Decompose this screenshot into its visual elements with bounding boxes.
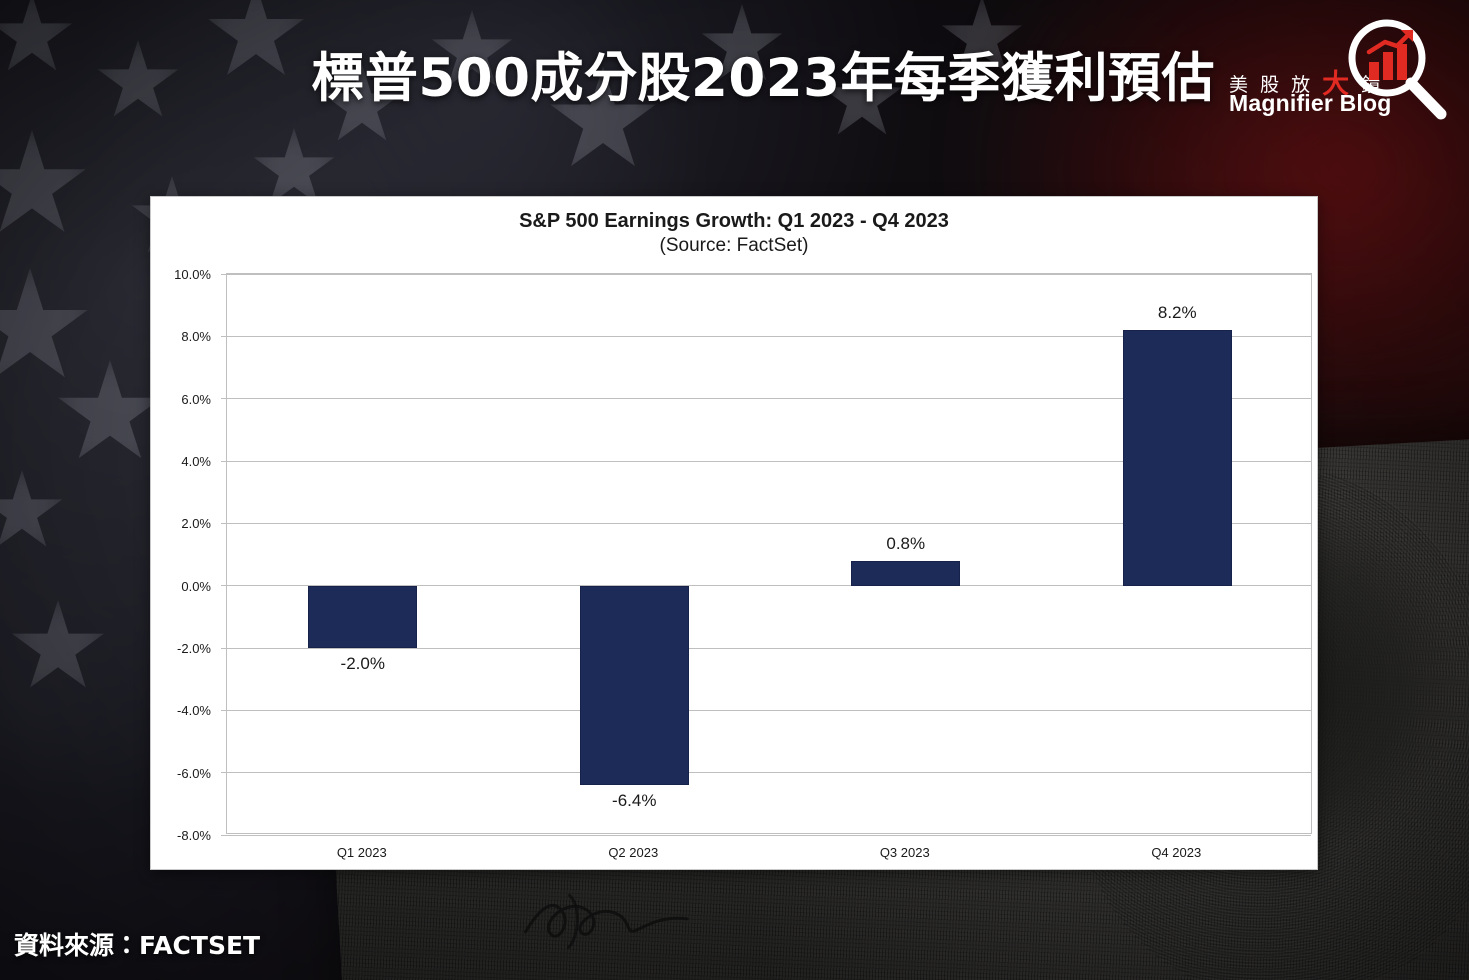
y-axis-label: 0.0%: [147, 579, 211, 594]
y-axis-tick: [221, 648, 227, 649]
bar-value-label: 0.8%: [770, 534, 1042, 554]
magnifier-bar-chart-icon: [1343, 16, 1453, 126]
y-axis-label: -6.0%: [147, 766, 211, 781]
y-axis-tick: [221, 398, 227, 399]
y-axis-label: 8.0%: [147, 329, 211, 344]
y-axis-label: 4.0%: [147, 454, 211, 469]
y-axis-tick: [221, 274, 227, 275]
source-note: 資料來源：FACTSET: [14, 926, 260, 962]
slide-header: 標普500成分股2023年每季獲利預估 美 股 放 大 鏡 Magnifier …: [0, 0, 1469, 160]
y-axis-tick: [221, 710, 227, 711]
page-title: 標普500成分股2023年每季獲利預估: [0, 52, 1215, 105]
x-axis-label: Q4 2023: [1041, 845, 1313, 860]
y-axis-tick: [221, 772, 227, 773]
slide-canvas: 標普500成分股2023年每季獲利預估 美 股 放 大 鏡 Magnifier …: [0, 0, 1469, 980]
x-axis-label: Q1 2023: [226, 845, 498, 860]
y-axis-label: 10.0%: [147, 267, 211, 282]
y-axis-label: -8.0%: [147, 828, 211, 843]
bar-value-label: -6.4%: [499, 791, 771, 811]
y-axis-tick: [221, 461, 227, 462]
y-axis-tick: [221, 523, 227, 524]
gridline: [227, 274, 1311, 275]
bar[interactable]: [580, 586, 689, 785]
bar[interactable]: [308, 586, 417, 648]
y-axis-tick: [221, 336, 227, 337]
brand-logo[interactable]: 美 股 放 大 鏡 Magnifier Blog: [1225, 14, 1455, 129]
bar[interactable]: [851, 561, 960, 586]
y-axis-label: -4.0%: [147, 703, 211, 718]
bar[interactable]: [1123, 330, 1232, 586]
y-axis-tick: [221, 835, 227, 836]
y-axis-tick: [221, 585, 227, 586]
gridline: [227, 710, 1311, 711]
bar-value-label: -2.0%: [227, 654, 499, 674]
y-axis-label: 2.0%: [147, 516, 211, 531]
x-axis-label: Q3 2023: [769, 845, 1041, 860]
gridline: [227, 835, 1311, 836]
chart-subtitle: (Source: FactSet): [151, 235, 1317, 257]
y-axis-label: 6.0%: [147, 392, 211, 407]
gridline: [227, 772, 1311, 773]
chart-title: S&P 500 Earnings Growth: Q1 2023 - Q4 20…: [151, 210, 1317, 233]
bar-value-label: 8.2%: [1042, 303, 1314, 323]
x-axis-label: Q2 2023: [498, 845, 770, 860]
chart-card: S&P 500 Earnings Growth: Q1 2023 - Q4 20…: [150, 196, 1318, 870]
y-axis-label: -2.0%: [147, 641, 211, 656]
plot-area: 10.0%8.0%6.0%4.0%2.0%0.0%-2.0%-4.0%-6.0%…: [226, 273, 1312, 834]
